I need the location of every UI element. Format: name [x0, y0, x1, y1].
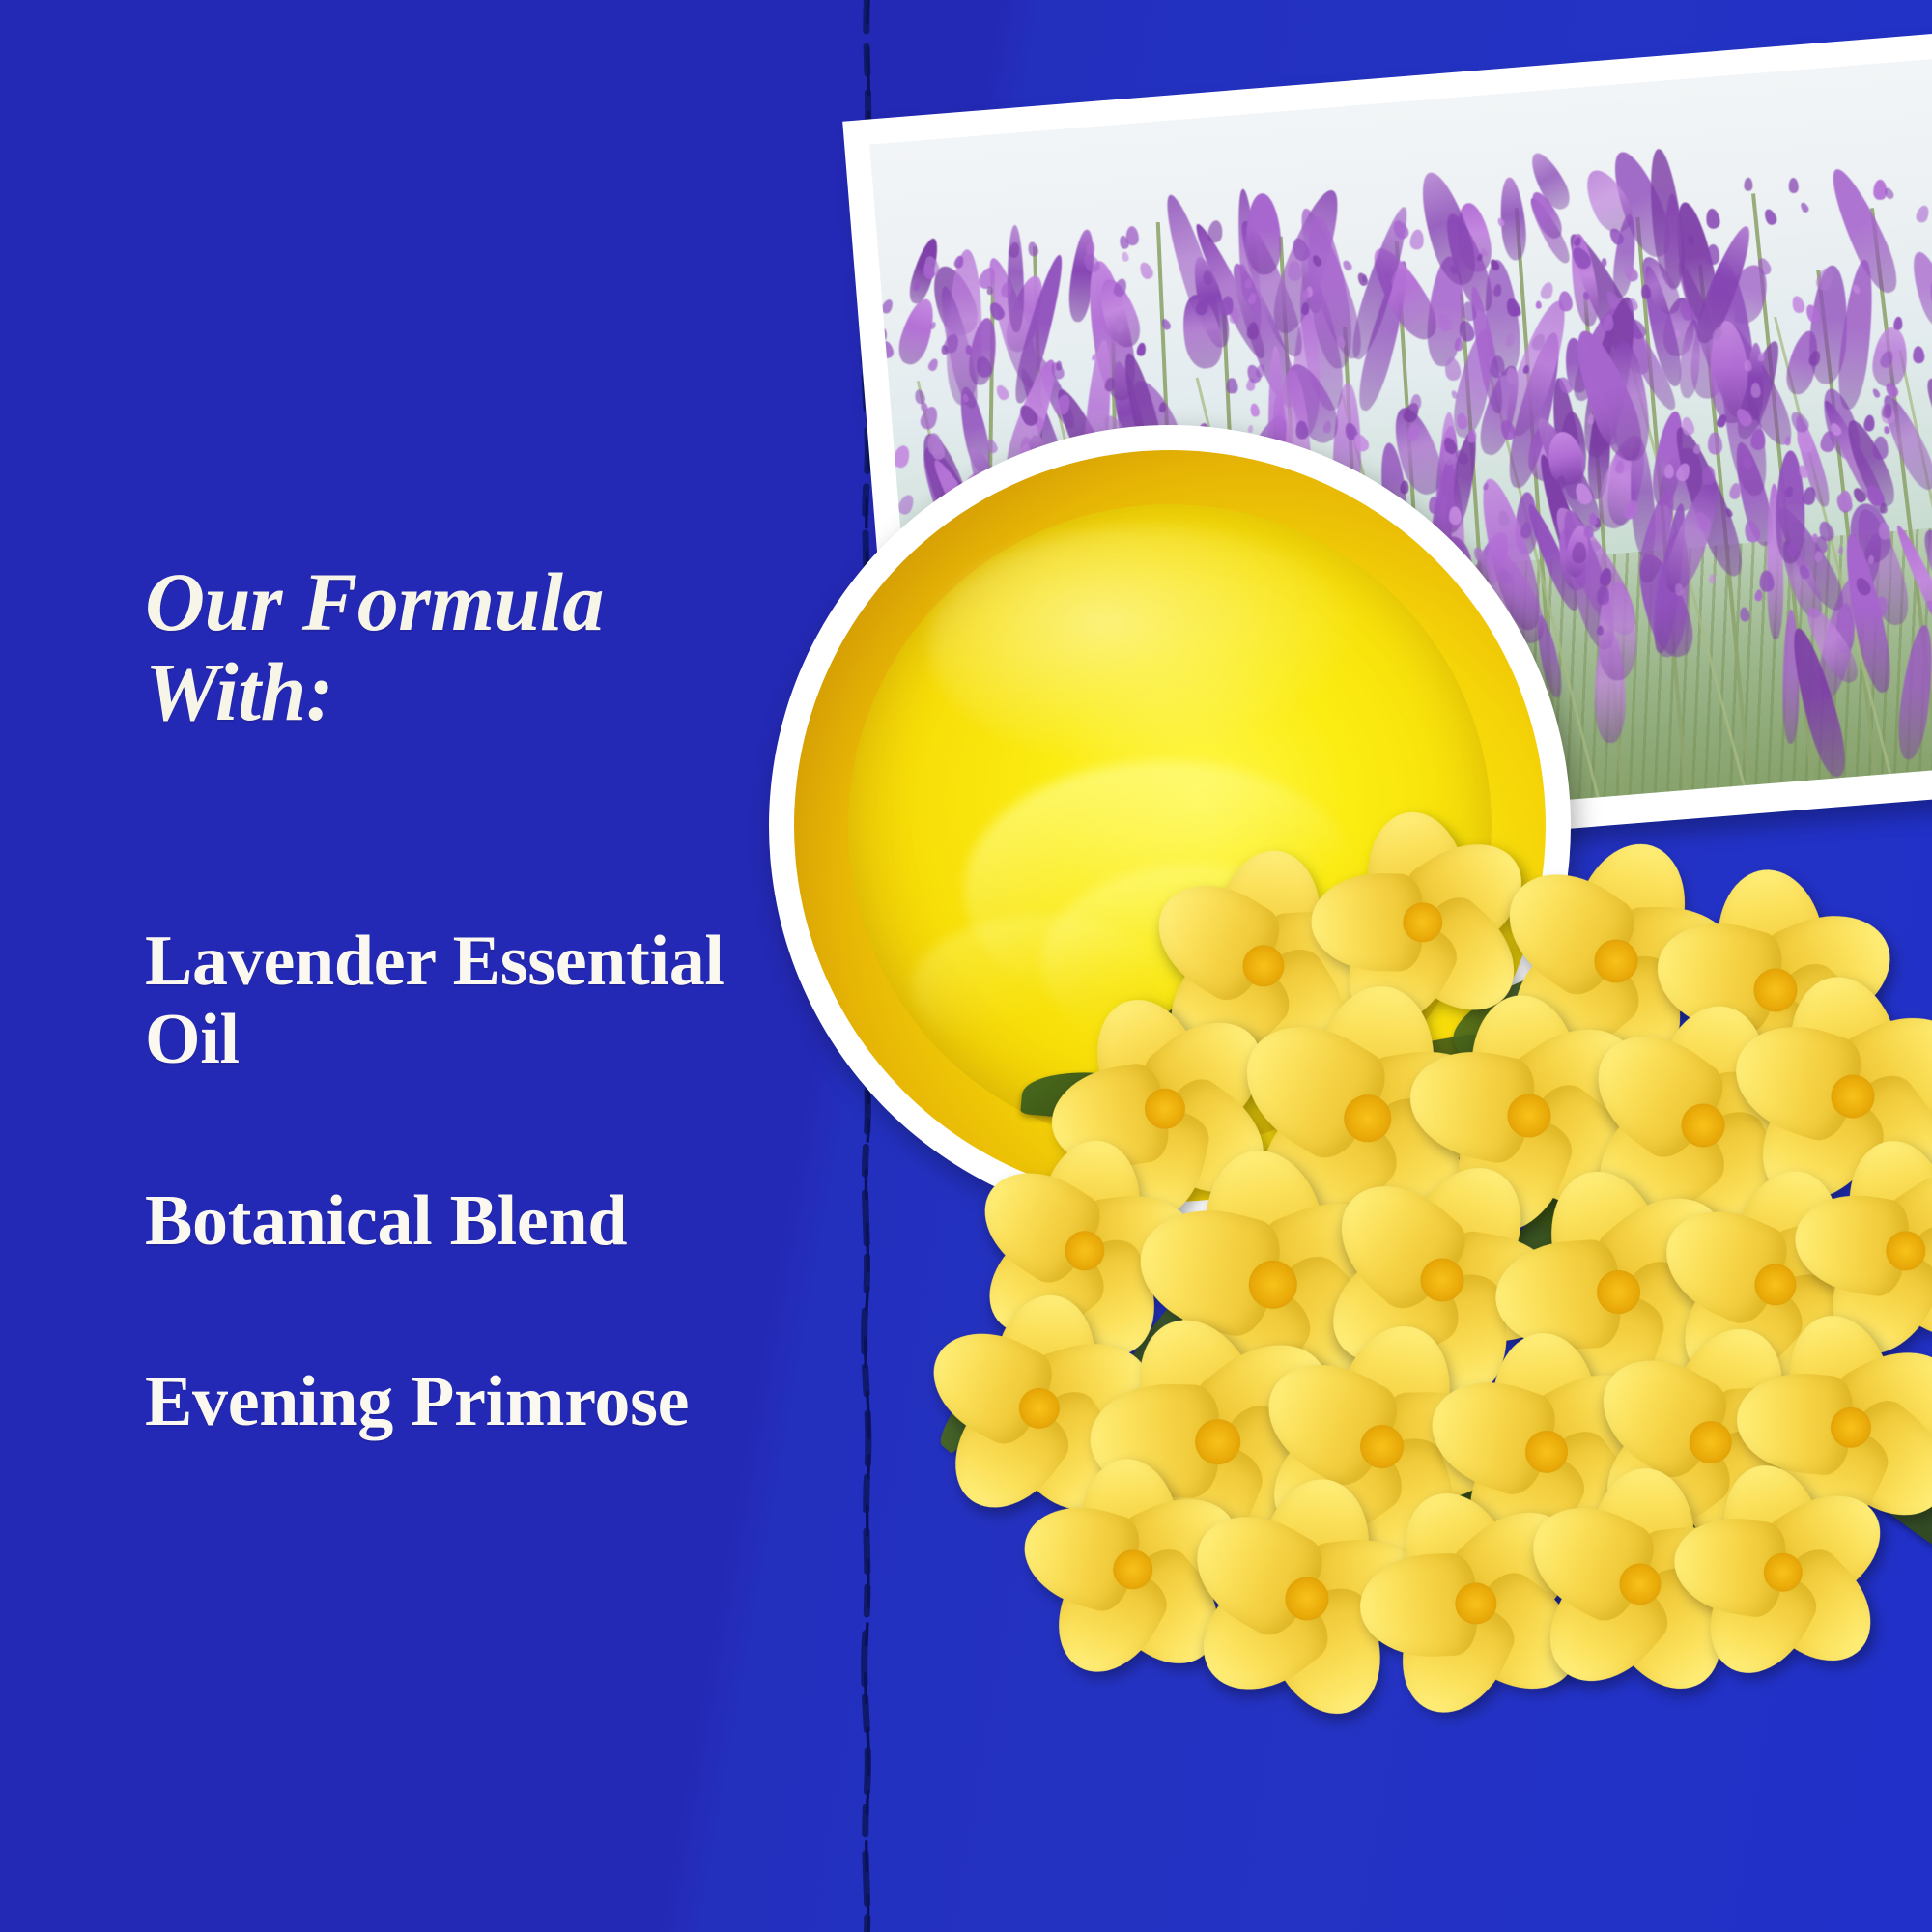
- ingredient-item-evening-primrose: Evening Primrose: [145, 1363, 782, 1441]
- page-title: Our Formula With:: [145, 557, 763, 737]
- ingredient-item-botanical-blend: Botanical Blend: [145, 1182, 782, 1261]
- ingredient-item-lavender-essential-oil: Lavender Essential Oil: [145, 923, 782, 1080]
- oil-gloss-highlight: [929, 526, 1365, 766]
- image-collage: [838, 0, 1932, 1932]
- left-text-column: Our Formula With: Lavender Essential Oil…: [0, 0, 838, 1932]
- primrose-bouquet: [732, 753, 1932, 1932]
- ingredient-list: Lavender Essential Oil Botanical Blend E…: [145, 923, 782, 1442]
- poster-canvas: Our Formula With: Lavender Essential Oil…: [0, 0, 1932, 1932]
